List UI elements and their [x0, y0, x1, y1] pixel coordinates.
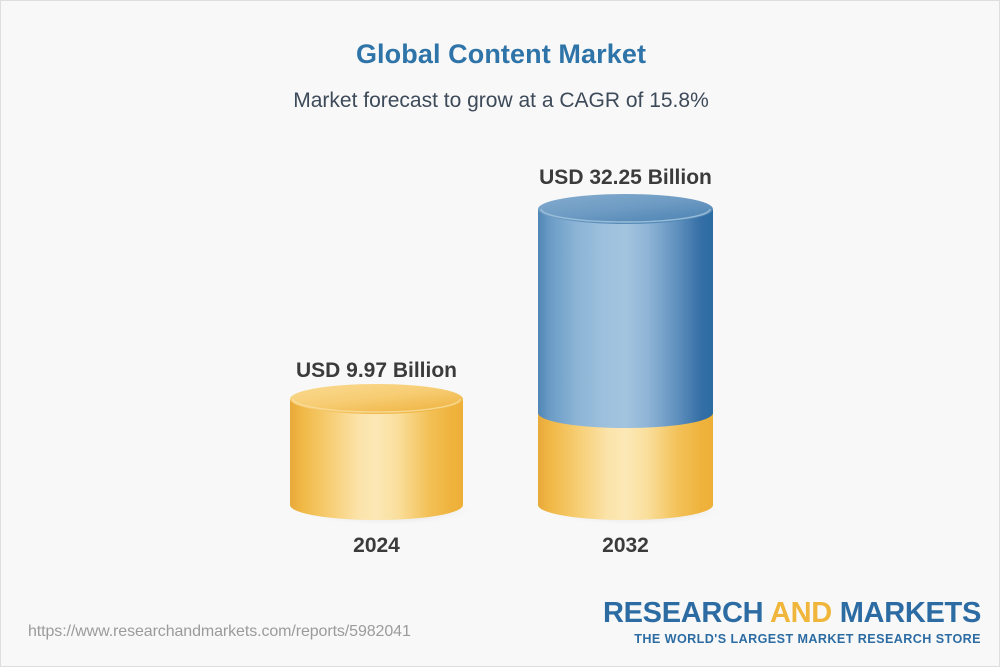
- value-label-2032: USD 32.25 Billion: [509, 166, 742, 190]
- logo-tagline: THE WORLD'S LARGEST MARKET RESEARCH STOR…: [603, 633, 981, 646]
- bar-group-2032: [538, 201, 713, 521]
- cylinder-2024-top: [290, 384, 463, 414]
- cylinder-2032-body: [538, 209, 713, 428]
- plot-area: USD 9.97 Billion 2024: [1, 1, 1000, 601]
- category-label-2024: 2024: [290, 534, 463, 558]
- logo-word-research: RESEARCH: [603, 597, 763, 629]
- cylinder-2024[interactable]: [290, 391, 463, 521]
- chart-canvas: Global Content Market Market forecast to…: [0, 0, 1000, 667]
- cylinder-2032-top: [538, 194, 713, 224]
- research-and-markets-logo[interactable]: RESEARCH AND MARKETS THE WORLD'S LARGEST…: [603, 599, 981, 646]
- category-label-2032: 2032: [538, 534, 713, 558]
- source-url[interactable]: https://www.researchandmarkets.com/repor…: [28, 623, 411, 641]
- cylinder-2032-base-body: [538, 413, 713, 520]
- logo-wordmark: RESEARCH AND MARKETS: [603, 599, 981, 628]
- value-label-2024: USD 9.97 Billion: [260, 359, 493, 383]
- bar-group-2024: [290, 391, 463, 521]
- logo-word-markets: MARKETS: [840, 597, 981, 629]
- cylinder-2032[interactable]: [538, 201, 713, 521]
- logo-word-and: AND: [763, 597, 839, 629]
- cylinder-2024-body: [290, 399, 463, 520]
